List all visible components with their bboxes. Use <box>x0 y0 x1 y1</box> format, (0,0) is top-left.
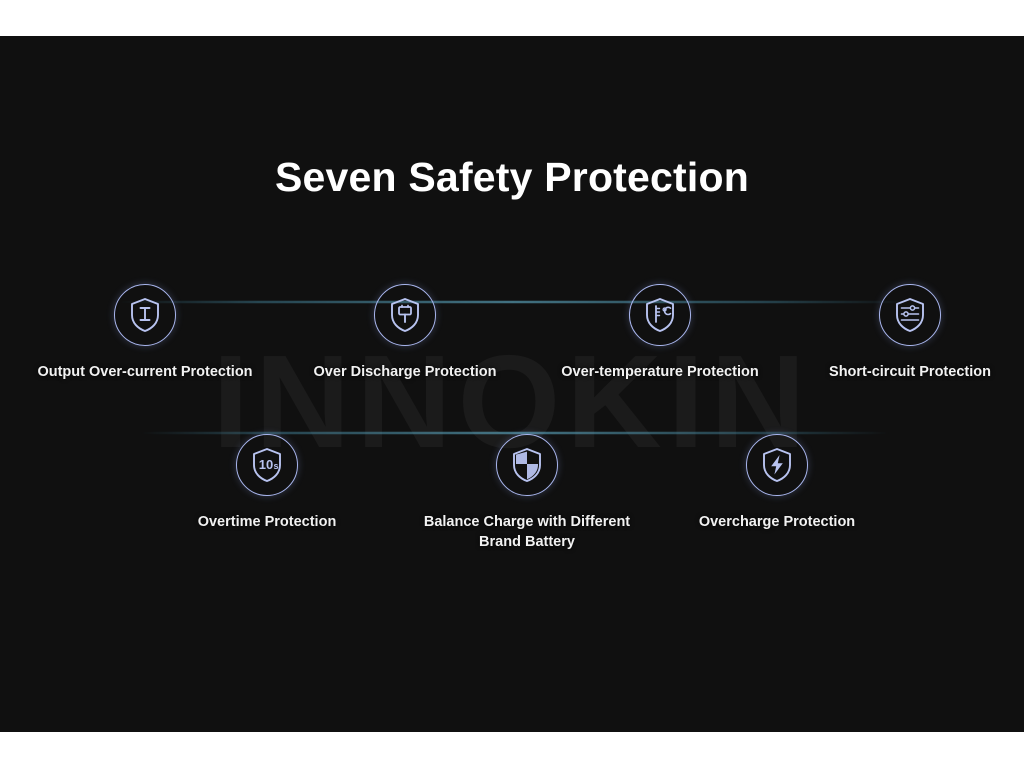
shield-balance-icon <box>496 434 558 496</box>
protection-item-label: Over-temperature Protection <box>535 362 785 382</box>
shield-discharge-icon <box>374 284 436 346</box>
protection-item-label: Overcharge Protection <box>657 512 897 532</box>
protection-item-short-circuit[interactable]: Short-circuit Protection <box>790 284 1024 382</box>
slide-canvas: INNOKIN Seven Safety Protection Output O… <box>0 36 1024 732</box>
protection-item-label: Output Over-current Protection <box>25 362 265 382</box>
svg-text:s: s <box>273 461 278 471</box>
protection-item-output-over-current[interactable]: Output Over-current Protection <box>25 284 265 382</box>
protection-item-label: Overtime Protection <box>147 512 387 532</box>
protection-item-label: Balance Charge with Different Brand Batt… <box>417 512 637 552</box>
shield-balance-glyph <box>507 445 547 485</box>
protection-item-balance-charge[interactable]: Balance Charge with Different Brand Batt… <box>407 434 647 552</box>
page-title: Seven Safety Protection <box>0 154 1024 201</box>
protection-item-label: Over Discharge Protection <box>285 362 525 382</box>
shield-timer-icon: 10 s <box>236 434 298 496</box>
shield-current-icon <box>114 284 176 346</box>
protection-item-over-discharge[interactable]: Over Discharge Protection <box>285 284 525 382</box>
shield-current-glyph <box>125 295 165 335</box>
shield-discharge-glyph <box>385 295 425 335</box>
shield-timer-glyph: 10 s <box>247 445 287 485</box>
shield-bolt-icon <box>746 434 808 496</box>
slide-stage: INNOKIN Seven Safety Protection Output O… <box>0 0 1024 768</box>
protection-item-over-temperature[interactable]: Over-temperature Protection <box>535 284 785 382</box>
protection-item-overcharge[interactable]: Overcharge Protection <box>657 434 897 532</box>
shield-bolt-glyph <box>757 445 797 485</box>
shield-circuit-glyph <box>890 295 930 335</box>
protection-item-overtime[interactable]: 10 s Overtime Protection <box>147 434 387 532</box>
svg-text:10: 10 <box>259 457 273 472</box>
shield-temperature-icon <box>629 284 691 346</box>
shield-circuit-icon <box>879 284 941 346</box>
shield-temperature-glyph <box>640 295 680 335</box>
protection-item-label: Short-circuit Protection <box>790 362 1024 382</box>
